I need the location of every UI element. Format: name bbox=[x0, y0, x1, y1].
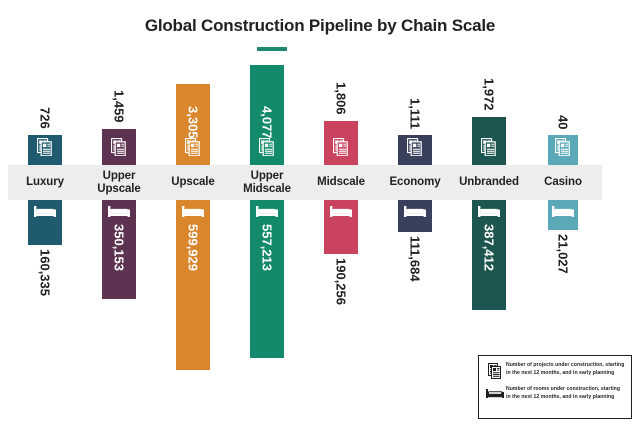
projects-value-label: 4,077 bbox=[261, 106, 274, 139]
legend-label-projects: Number of projects under construction, s… bbox=[506, 362, 626, 378]
projects-value-label: 40 bbox=[557, 115, 570, 129]
rooms-bar: 21,027 bbox=[548, 200, 578, 230]
chart-column-upper-upscale: 1,459UpperUpscale350,153 bbox=[82, 0, 156, 427]
projects-bar: 1,972 bbox=[472, 117, 506, 165]
chart-column-upper-midscale: 4,077UpperMidscale557,213 bbox=[230, 0, 304, 427]
chart-column-economy: 1,111Economy111,684 bbox=[378, 0, 452, 427]
document-stack-icon bbox=[555, 138, 571, 161]
projects-value-label: 1,972 bbox=[483, 78, 496, 111]
chart-column-midscale: 1,806Midscale190,256 bbox=[304, 0, 378, 427]
legend-label-rooms: Number of rooms under construction, star… bbox=[506, 386, 626, 402]
document-stack-icon bbox=[333, 138, 349, 161]
projects-bar: 3,305 bbox=[176, 84, 210, 165]
document-stack-icon bbox=[481, 138, 497, 161]
projects-bar: 4,077 bbox=[250, 65, 284, 165]
rooms-value-label: 387,412 bbox=[483, 224, 496, 271]
rooms-value-label: 557,213 bbox=[261, 224, 274, 271]
bed-icon bbox=[404, 204, 426, 223]
rooms-bar: 387,412 bbox=[472, 200, 506, 310]
projects-bar: 40 bbox=[548, 135, 578, 165]
bed-icon bbox=[484, 386, 506, 399]
chart-column-upscale: 3,305Upscale599,929 bbox=[156, 0, 230, 427]
document-stack-icon bbox=[37, 138, 53, 161]
bed-icon bbox=[552, 204, 574, 223]
category-label: Economy bbox=[378, 165, 452, 200]
category-label: Casino bbox=[526, 165, 600, 200]
projects-value-label: 1,806 bbox=[335, 82, 348, 115]
bed-icon bbox=[108, 204, 130, 223]
bed-icon bbox=[256, 204, 278, 223]
bed-icon bbox=[34, 204, 56, 223]
category-label: Upscale bbox=[156, 165, 230, 200]
category-label: Midscale bbox=[304, 165, 378, 200]
rooms-bar: 111,684 bbox=[398, 200, 432, 232]
projects-value-label: 1,111 bbox=[409, 98, 422, 129]
rooms-bar: 160,335 bbox=[28, 200, 62, 245]
document-stack-icon bbox=[259, 138, 275, 161]
legend-item-projects: Number of projects under construction, s… bbox=[484, 362, 626, 379]
category-label: Unbranded bbox=[452, 165, 526, 200]
rooms-bar: 350,153 bbox=[102, 200, 136, 299]
rooms-value-label: 599,929 bbox=[187, 224, 200, 271]
document-stack-icon bbox=[407, 138, 423, 161]
projects-value-label: 1,459 bbox=[113, 90, 126, 123]
chart-column-luxury: 726Luxury160,335 bbox=[8, 0, 82, 427]
document-stack-icon bbox=[484, 362, 506, 379]
document-stack-icon bbox=[185, 138, 201, 161]
bed-icon bbox=[182, 204, 204, 223]
projects-bar: 1,806 bbox=[324, 121, 358, 165]
rooms-value-label: 190,256 bbox=[335, 258, 348, 305]
category-label: Luxury bbox=[8, 165, 82, 200]
rooms-value-label: 350,153 bbox=[113, 224, 126, 271]
legend-item-rooms: Number of rooms under construction, star… bbox=[484, 386, 626, 402]
rooms-value-label: 21,027 bbox=[557, 234, 570, 274]
rooms-bar: 557,213 bbox=[250, 200, 284, 358]
category-label: UpperUpscale bbox=[82, 165, 156, 200]
document-stack-icon bbox=[111, 138, 127, 161]
rooms-value-label: 160,335 bbox=[39, 249, 52, 296]
projects-bar: 726 bbox=[28, 135, 62, 165]
projects-bar: 1,111 bbox=[398, 135, 432, 165]
projects-bar: 1,459 bbox=[102, 129, 136, 165]
projects-value-label: 726 bbox=[39, 107, 52, 129]
bed-icon bbox=[330, 204, 352, 223]
rooms-value-label: 111,684 bbox=[409, 236, 422, 282]
projects-value-label: 3,305 bbox=[187, 106, 200, 139]
category-label: UpperMidscale bbox=[230, 165, 304, 200]
bed-icon bbox=[478, 204, 500, 223]
chart-legend: Number of projects under construction, s… bbox=[478, 355, 632, 419]
rooms-bar: 599,929 bbox=[176, 200, 210, 370]
rooms-bar: 190,256 bbox=[324, 200, 358, 254]
